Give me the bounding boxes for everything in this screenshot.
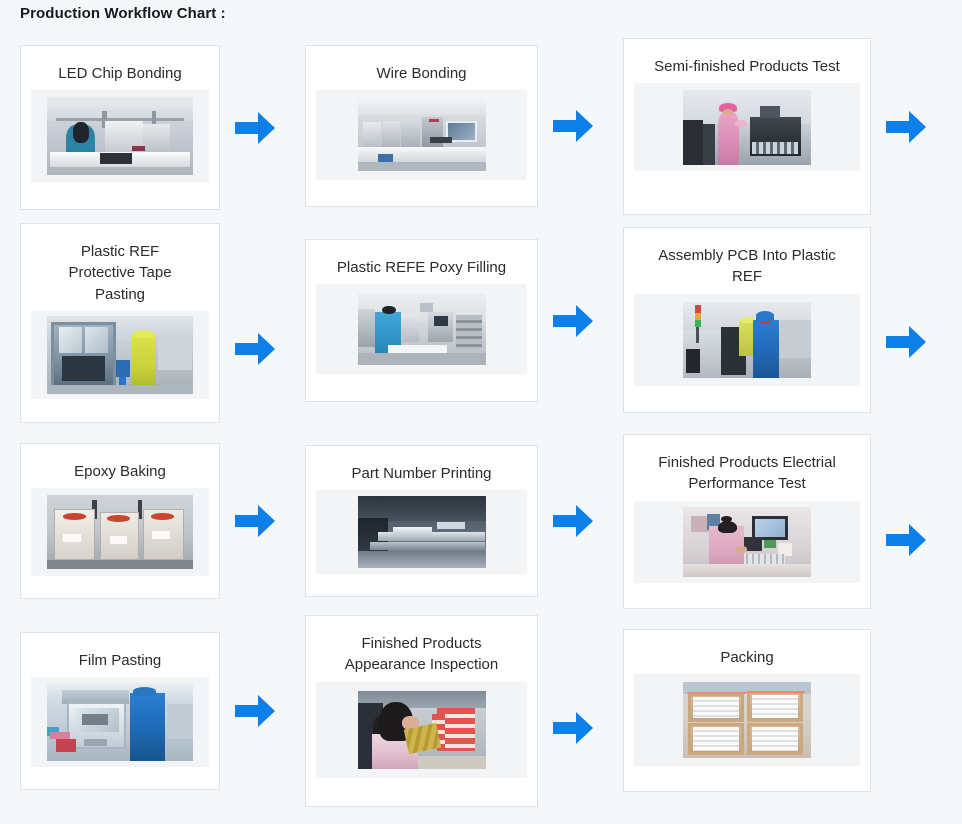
arrow-right-icon [550, 706, 596, 750]
step-title: Semi-finished Products Test [647, 49, 847, 83]
step-thumbnail [634, 294, 860, 386]
workflow-cell-11: Finished Products Appearance Inspection [305, 615, 596, 807]
step-title: Film Pasting [31, 643, 209, 677]
epoxy-baking-photo [47, 495, 193, 569]
workflow-cell-1: LED Chip Bonding [20, 45, 278, 210]
step-title: Finished Products Electrial Performance … [634, 445, 860, 501]
workflow-cell-6: Assembly PCB Into Plastic REF [623, 227, 929, 413]
workflow-cell-4: Plastic REF Protective Tape Pasting [20, 223, 278, 423]
finished-products-electrial-performance-test-photo [683, 507, 811, 577]
step-thumbnail [634, 501, 860, 583]
step-thumbnail [316, 490, 527, 574]
step-title: Part Number Printing [316, 456, 527, 490]
workflow-cell-9: Finished Products Electrial Performance … [623, 434, 929, 609]
step-card-finished-products-electrial-performance-test[interactable]: Finished Products Electrial Performance … [623, 434, 871, 609]
workflow-row-3: Epoxy Baking [0, 421, 962, 612]
step-card-led-chip-bonding[interactable]: LED Chip Bonding [20, 45, 220, 210]
arrow-right-icon [883, 518, 929, 562]
step-card-film-pasting[interactable]: Film Pasting [20, 632, 220, 790]
workflow-cell-2: Wire Bonding [305, 45, 596, 207]
workflow-cell-5: Plastic REFE Poxy Filling [305, 239, 596, 402]
workflow-row-1: LED Chip Bonding [0, 33, 962, 218]
wire-bonding-photo [358, 99, 486, 171]
step-title: Epoxy Baking [31, 454, 209, 488]
workflow-cell-10: Film Pasting [20, 632, 278, 790]
workflow-cell-7: Epoxy Baking [20, 443, 278, 599]
step-card-semi-finished-products-test[interactable]: Semi-finished Products Test [623, 38, 871, 215]
step-card-part-number-printing[interactable]: Part Number Printing [305, 445, 538, 597]
step-thumbnail [31, 677, 209, 767]
workflow-cell-3: Semi-finished Products Test [623, 38, 929, 215]
step-thumbnail [316, 682, 527, 778]
step-thumbnail [31, 488, 209, 576]
workflow-cell-8: Part Number Printing [305, 445, 596, 597]
step-title: Finished Products Appearance Inspection [324, 626, 520, 682]
step-thumbnail [634, 83, 860, 171]
step-title: Assembly PCB Into Plastic REF [641, 238, 853, 294]
step-card-packing[interactable]: Packing [623, 629, 871, 792]
packing-photo [683, 682, 811, 758]
arrow-right-icon [232, 327, 278, 371]
film-pasting-photo [47, 683, 193, 761]
finished-products-appearance-inspection-photo [358, 691, 486, 769]
step-thumbnail [634, 674, 860, 766]
step-card-plastic-ref-protective-tape-pasting[interactable]: Plastic REF Protective Tape Pasting [20, 223, 220, 423]
step-card-assembly-pcb-into-plastic-ref[interactable]: Assembly PCB Into Plastic REF [623, 227, 871, 413]
arrow-right-icon [232, 689, 278, 733]
plastic-refe-poxy-filling-photo [358, 293, 486, 365]
step-title: Plastic REFE Poxy Filling [316, 250, 527, 284]
workflow-row-4: Film Pasting [0, 612, 962, 812]
step-thumbnail [31, 311, 209, 399]
led-chip-bonding-photo [47, 97, 193, 175]
step-title: Packing [634, 640, 860, 674]
step-card-wire-bonding[interactable]: Wire Bonding [305, 45, 538, 207]
arrow-right-icon [550, 299, 596, 343]
workflow-cell-12: Packing [623, 629, 871, 792]
arrow-right-icon [883, 320, 929, 364]
step-card-finished-products-appearance-inspection[interactable]: Finished Products Appearance Inspection [305, 615, 538, 807]
step-title: LED Chip Bonding [31, 56, 209, 90]
step-card-plastic-refe-poxy-filling[interactable]: Plastic REFE Poxy Filling [305, 239, 538, 402]
plastic-ref-protective-tape-pasting-photo [47, 316, 193, 394]
assembly-pcb-into-plastic-ref-photo [683, 302, 811, 378]
step-title: Wire Bonding [316, 56, 527, 90]
step-title: Plastic REF Protective Tape Pasting [45, 234, 195, 311]
step-thumbnail [316, 284, 527, 374]
arrow-right-icon [883, 105, 929, 149]
page-title: Production Workflow Chart : [20, 5, 226, 22]
step-thumbnail [316, 90, 527, 180]
arrow-right-icon [232, 106, 278, 150]
arrow-right-icon [232, 499, 278, 543]
semi-finished-products-test-photo [683, 90, 811, 165]
workflow-row-2: Plastic REF Protective Tape Pasting [0, 218, 962, 421]
production-workflow-chart: LED Chip Bonding [0, 33, 962, 824]
step-thumbnail [31, 90, 209, 182]
part-number-printing-photo [358, 496, 486, 568]
arrow-right-icon [550, 104, 596, 148]
step-card-epoxy-baking[interactable]: Epoxy Baking [20, 443, 220, 599]
arrow-right-icon [550, 499, 596, 543]
